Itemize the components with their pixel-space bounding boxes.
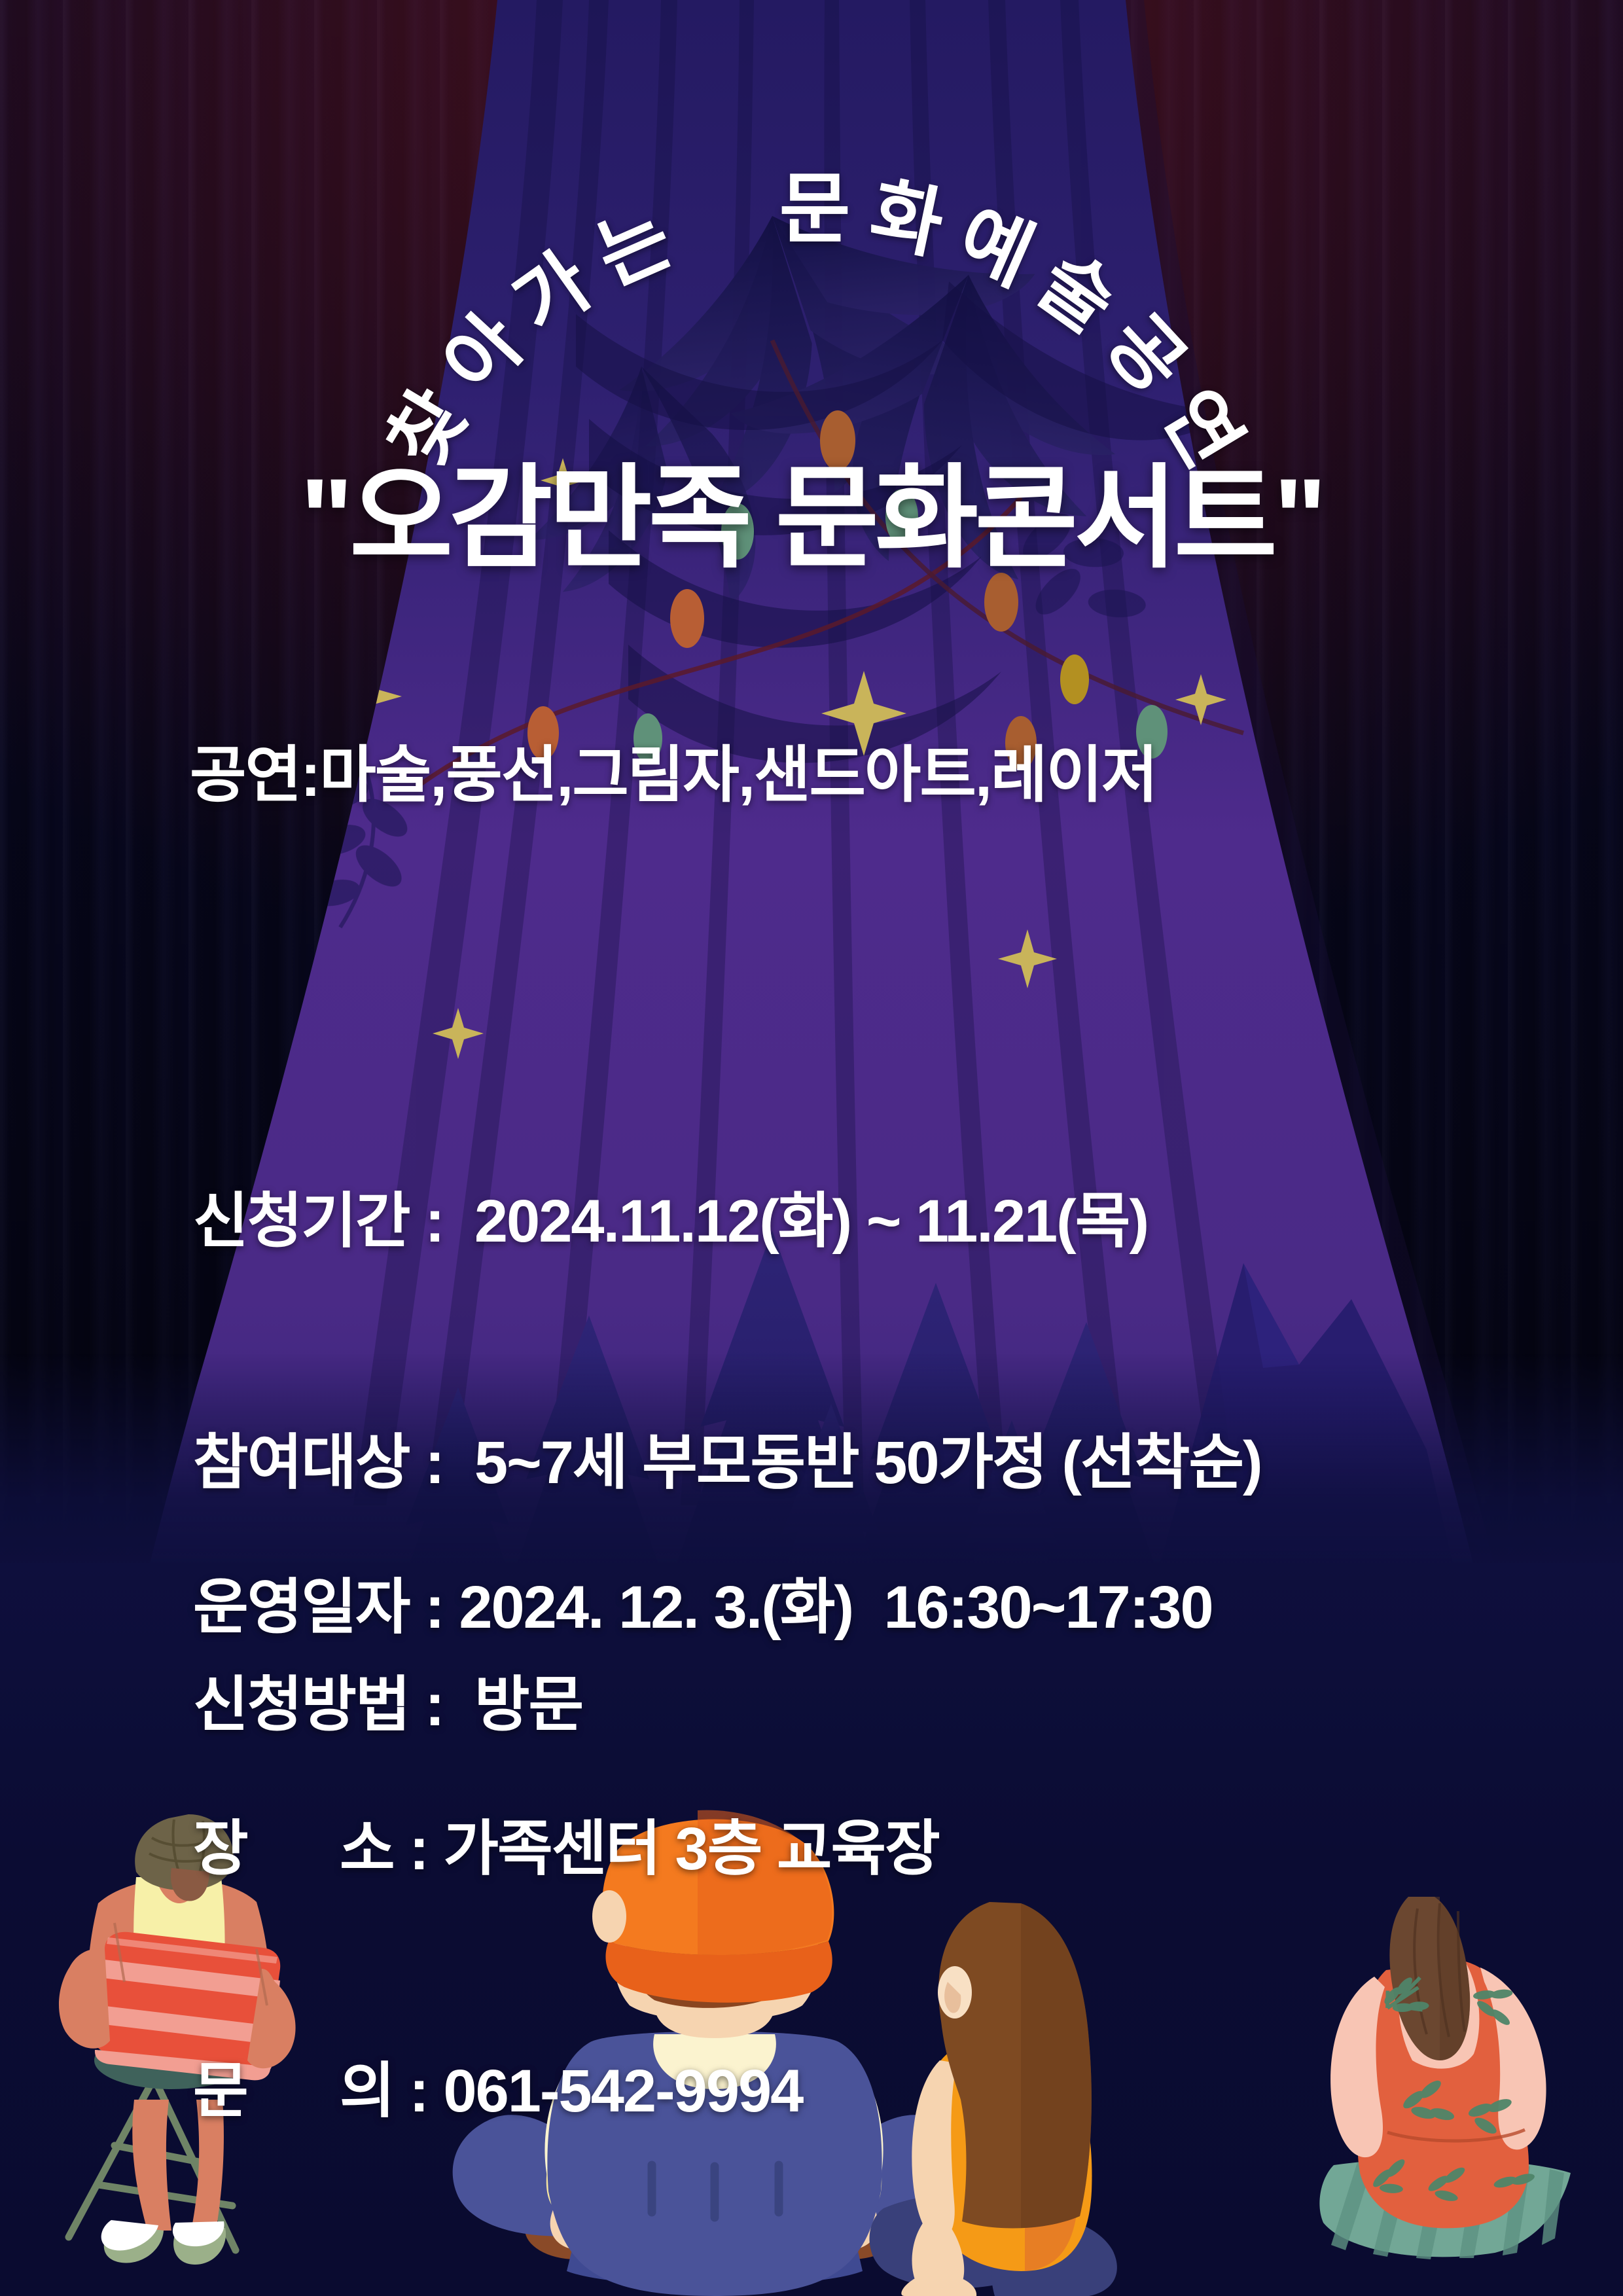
figure-woman-on-picnic-mat [1319, 1897, 1571, 2259]
event-place-row: 장 소 : 가족센터 3층 교육장 [193, 1809, 1213, 1890]
page-title: "오감만족 문화콘서트" [0, 458, 1623, 580]
event-poster: 찾아가는문화예술공연 "오감만족 문화콘서트" 공연:마술,풍선,그림자,샌드아… [0, 0, 1623, 2296]
apply-period-row: 신청기간 : 2024.11.12(화) ~ 11.21(목) [193, 1181, 1262, 1262]
event-contact-row: 문 의 : 061-542-9994 [193, 2051, 1213, 2132]
performance-list: 공연:마술,풍선,그림자,샌드아트,레이저 [190, 725, 1156, 814]
event-info-block: 운영일자 : 2024. 12. 3.(화) 16:30~17:30 장 소 :… [193, 1406, 1213, 2293]
event-date-row: 운영일자 : 2024. 12. 3.(화) 16:30~17:30 [193, 1568, 1213, 1648]
